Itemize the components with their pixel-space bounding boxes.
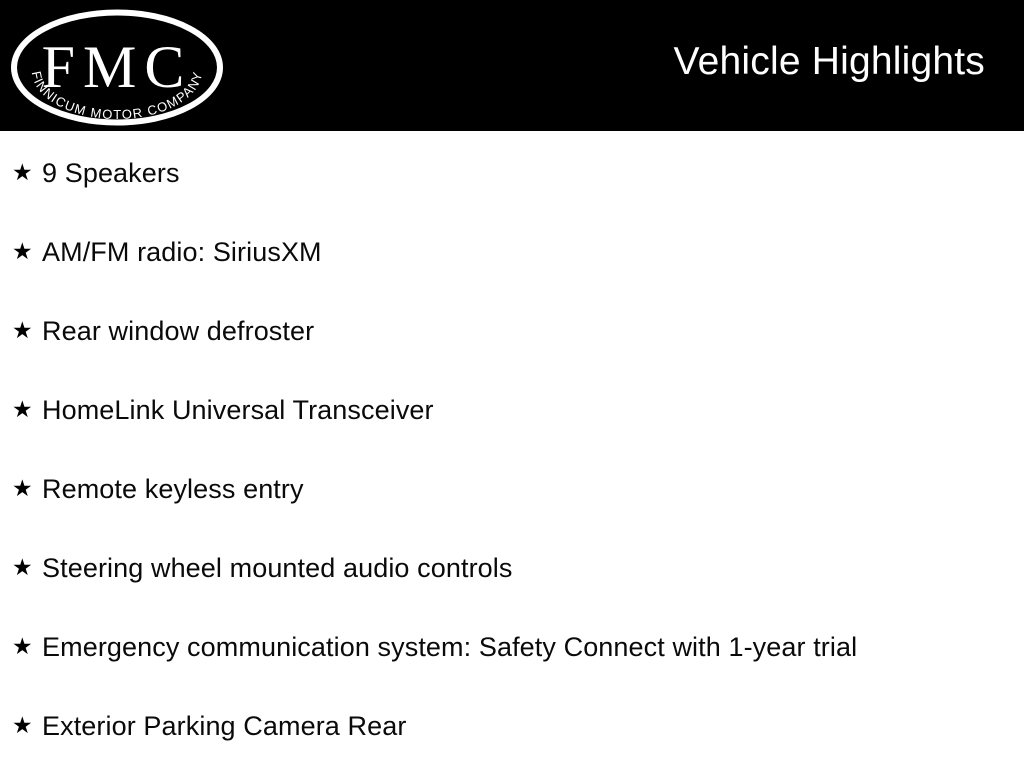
list-item: ★ HomeLink Universal Transceiver <box>0 390 1024 430</box>
svg-text:FMC: FMC <box>42 34 193 100</box>
feature-label: Remote keyless entry <box>42 472 1024 506</box>
feature-label: 9 Speakers <box>42 156 1024 190</box>
star-bullet-icon: ★ <box>12 320 42 343</box>
star-bullet-icon: ★ <box>12 636 42 659</box>
feature-label: Emergency communication system: Safety C… <box>42 630 1024 664</box>
list-item: ★ 9 Speakers <box>0 153 1024 193</box>
list-item: ★ Emergency communication system: Safety… <box>0 627 1024 667</box>
star-bullet-icon: ★ <box>12 241 42 264</box>
star-bullet-icon: ★ <box>12 162 42 185</box>
vehicle-features-list: ★ 9 Speakers ★ AM/FM radio: SiriusXM ★ R… <box>0 131 1024 768</box>
feature-label: Steering wheel mounted audio controls <box>42 551 1024 585</box>
list-item: ★ Rear window defroster <box>0 311 1024 351</box>
feature-label: Rear window defroster <box>42 314 1024 348</box>
list-item: ★ Exterior Parking Camera Rear <box>0 706 1024 746</box>
list-item: ★ AM/FM radio: SiriusXM <box>0 232 1024 272</box>
star-bullet-icon: ★ <box>12 557 42 580</box>
feature-label: Exterior Parking Camera Rear <box>42 709 1024 743</box>
fmc-logo: FMC FINNICUM MOTOR COMPANY <box>10 9 224 126</box>
page-title: Vehicle Highlights <box>674 38 985 86</box>
header-bar: FMC FINNICUM MOTOR COMPANY Vehicle Highl… <box>0 0 1024 131</box>
vehicle-highlights-slide: FMC FINNICUM MOTOR COMPANY Vehicle Highl… <box>0 0 1024 768</box>
star-bullet-icon: ★ <box>12 478 42 501</box>
star-bullet-icon: ★ <box>12 399 42 422</box>
list-item: ★ Steering wheel mounted audio controls <box>0 548 1024 588</box>
feature-label: AM/FM radio: SiriusXM <box>42 235 1024 269</box>
feature-label: HomeLink Universal Transceiver <box>42 393 1024 427</box>
list-item: ★ Remote keyless entry <box>0 469 1024 509</box>
star-bullet-icon: ★ <box>12 715 42 738</box>
